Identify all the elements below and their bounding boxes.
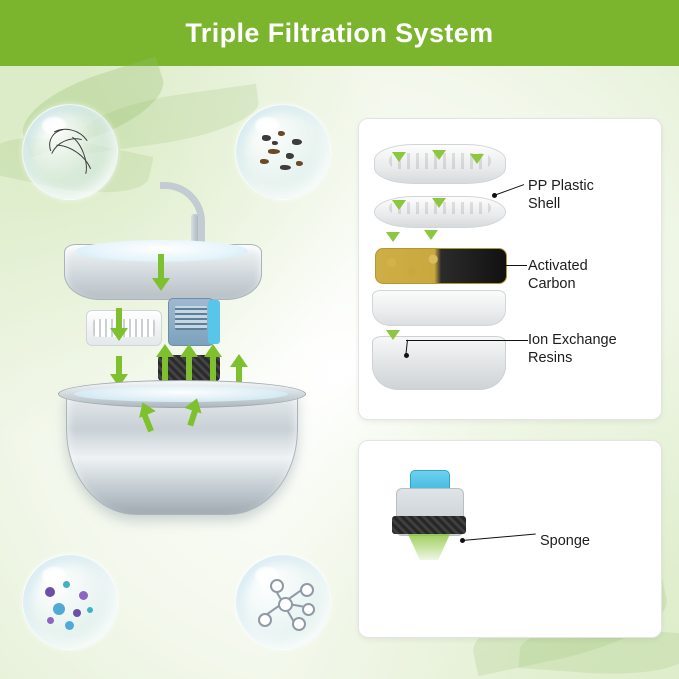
debris-speck xyxy=(260,159,269,164)
filter-bottom-basket xyxy=(372,336,506,390)
molecule-node xyxy=(258,613,272,627)
debris-speck xyxy=(278,131,285,136)
flow-arrow-stem xyxy=(116,356,122,376)
flow-arrow-down xyxy=(432,150,446,160)
debris-speck xyxy=(272,141,278,145)
callout-activated-carbon: Activated Carbon xyxy=(528,257,648,293)
sponge-band xyxy=(392,516,466,534)
molecule-node xyxy=(278,597,293,612)
molecule-node xyxy=(292,617,306,631)
debris-speck xyxy=(268,149,280,154)
callout-line-1: Ion Exchange xyxy=(528,331,656,349)
callout-line-2: Shell xyxy=(528,195,648,213)
callout-line-1: PP Plastic xyxy=(528,177,648,195)
sponge-assembly-illustration xyxy=(386,470,472,554)
bubble-highlight xyxy=(255,117,279,134)
pump-side-panel xyxy=(208,300,220,344)
flow-arrow-down xyxy=(386,232,400,242)
bacteria-dot xyxy=(63,581,70,588)
leader-line xyxy=(406,340,528,341)
bacteria-dot xyxy=(87,607,93,613)
callout-line-1: Activated xyxy=(528,257,648,275)
flow-arrow-up xyxy=(204,344,222,357)
flow-arrow-down xyxy=(386,330,400,340)
page-title: Triple Filtration System xyxy=(185,18,493,49)
callout-ion-exchange-resins: Ion Exchange Resins xyxy=(528,331,656,367)
callout-line-2: Carbon xyxy=(528,275,648,293)
bacteria-dot xyxy=(47,617,54,624)
flow-arrow-down xyxy=(432,198,446,208)
activated-carbon-layer xyxy=(375,248,507,284)
pump-grid xyxy=(175,306,207,330)
molecule-node xyxy=(270,579,284,593)
flow-arrow-stem xyxy=(158,254,164,280)
header-banner: Triple Filtration System xyxy=(0,0,679,66)
flow-arrow-up xyxy=(180,344,198,357)
debris-speck xyxy=(286,153,294,159)
molecule-node xyxy=(302,603,315,616)
flow-arrow-stem xyxy=(116,308,122,330)
flow-arrow-down xyxy=(424,230,438,240)
flow-arrow-up xyxy=(156,344,174,357)
leader-line xyxy=(503,265,527,266)
bacteria-dot xyxy=(45,587,55,597)
bacteria-dot xyxy=(65,621,74,630)
debris-speck xyxy=(296,161,303,166)
bacteria-dot xyxy=(73,609,81,617)
callout-pp-plastic-shell: PP Plastic Shell xyxy=(528,177,648,213)
pet-fountain-illustration xyxy=(40,180,340,580)
flow-arrow-up xyxy=(230,354,248,367)
flow-arrow-down xyxy=(110,328,128,341)
infographic-page: Triple Filtration System xyxy=(0,0,679,679)
flow-arrow-down xyxy=(152,278,170,291)
debris-speck xyxy=(280,165,291,170)
callout-sponge: Sponge xyxy=(540,532,650,550)
flow-arrow-down xyxy=(392,152,406,162)
debris-speck xyxy=(262,135,271,141)
callout-line-1: Sponge xyxy=(540,532,650,550)
flow-arrow-down xyxy=(470,154,484,164)
bowl-water-surface xyxy=(74,386,288,402)
bacteria-dot xyxy=(53,603,65,615)
molecule-node xyxy=(300,583,314,597)
bacteria-dot xyxy=(79,591,88,600)
callout-line-2: Resins xyxy=(528,349,656,367)
flow-arrow-down xyxy=(392,200,406,210)
ion-exchange-resin-tray xyxy=(372,290,506,326)
debris-speck xyxy=(292,139,302,145)
